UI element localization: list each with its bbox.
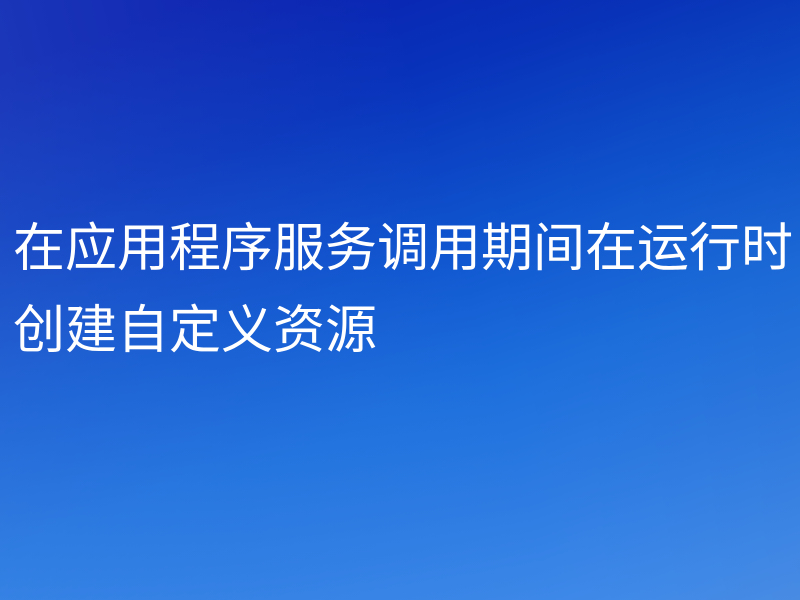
banner-headline: 在应用程序服务调用期间在运行时创建自定义资源	[13, 208, 800, 372]
banner-card: 在应用程序服务调用期间在运行时创建自定义资源	[0, 0, 800, 600]
